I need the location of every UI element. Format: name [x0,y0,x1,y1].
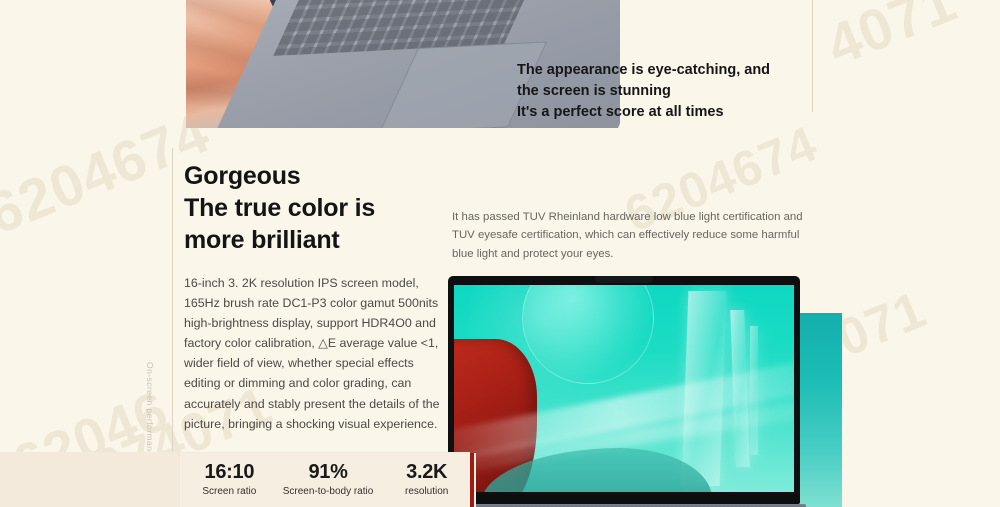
stat-item: 3.2K resolution [377,462,476,497]
teal-accent-panel [796,313,842,507]
stats-accent-bar [470,453,474,507]
stat-label: Screen ratio [180,486,279,497]
left-divider-line [172,148,173,478]
hero-caption-line-2: the screen is stunning [517,81,817,102]
product-detail-page: 6204674 6204674 4071 4071 62046 62046740… [0,0,1000,507]
stat-value: 16:10 [180,462,279,483]
stat-item: 16:10 Screen ratio [180,462,279,497]
section-heading-line-1: Gorgeous [184,160,375,192]
hero-caption-line-3: It's a perfect score at all times [517,102,817,123]
main-laptop-image [448,276,800,507]
laptop-bezel [448,276,800,504]
webcam-notch [595,276,653,283]
laptop-chin [448,495,800,504]
stat-value: 91% [279,462,378,483]
display-spec-paragraph: 16-inch 3. 2K resolution IPS screen mode… [184,273,446,434]
hero-caption-line-1: The appearance is eye-catching, and [517,60,817,81]
laptop-screen-wallpaper [454,285,794,492]
spec-stats-bar: 16:10 Screen ratio 91% Screen-to-body ra… [180,453,476,507]
section-heading-line-2: The true color is [184,192,375,224]
hero-caption: The appearance is eye-catching, and the … [517,60,817,123]
certification-paragraph: It has passed TUV Rheinland hardware low… [452,208,814,263]
stat-value: 3.2K [377,462,476,483]
stat-label: Screen-to-body ratio [279,486,378,497]
section-heading: Gorgeous The true color is more brillian… [184,160,375,256]
stat-label: resolution [377,486,476,497]
stat-item: 91% Screen-to-body ratio [279,462,378,497]
side-section-label: On-screen performance [145,362,155,461]
watermark: 4071 [817,0,965,79]
section-heading-line-3: more brilliant [184,224,375,256]
wallpaper-planet [522,285,654,384]
